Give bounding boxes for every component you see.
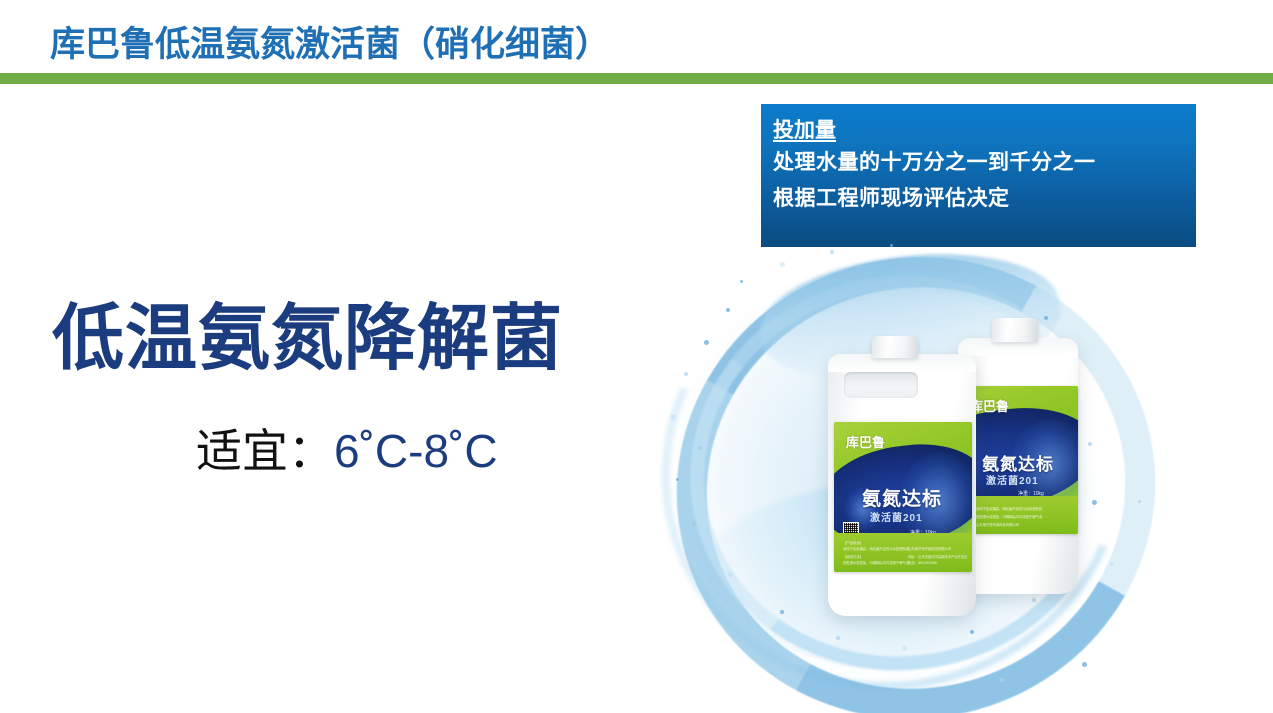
label-fineprint: 适用于氨氮偏高、硝化菌不足的污水处理系统 [976, 507, 1042, 512]
water-droplet [676, 478, 679, 481]
water-droplet [780, 262, 785, 267]
label-fineprint: 【使用方法】 [843, 555, 863, 560]
temperature-subline: 适宜：6˚C-8˚C [196, 424, 498, 479]
label-sub-text: 激活菌201 [986, 472, 1039, 487]
water-droplet [698, 446, 702, 450]
water-droplet [704, 340, 709, 345]
label-fineprint: 山东库巴鲁环保科技有限公司 [976, 523, 1019, 528]
product-label-front: 库巴鲁 氨氮达标 激活菌201 净重：10kg 【产品用途】 适用于氨氮偏高、硝… [834, 422, 972, 572]
water-droplet [780, 610, 784, 614]
label-fineprint: 按处理水量投加，可稀释后均匀泼洒于曝气池 [976, 515, 1042, 520]
water-droplet [740, 280, 743, 283]
water-droplet [1000, 276, 1004, 280]
water-droplet [1088, 442, 1092, 446]
dosage-callout-box: 投加量 处理水量的十万分之一到千分之一 根据工程师现场评估决定 [761, 104, 1196, 247]
water-droplet [1044, 316, 1048, 320]
water-droplet [890, 244, 893, 247]
subline-value: 6˚C-8˚C [334, 425, 498, 477]
bottle-handle [844, 372, 918, 398]
water-droplet [1082, 662, 1087, 667]
label-brand-text: 库巴鲁 [846, 432, 885, 451]
label-fineprint: 按处理水量投加，可稀释后均匀泼洒于曝气池 [843, 561, 909, 566]
product-bottle-front: 库巴鲁 氨氮达标 激活菌201 净重：10kg 【产品用途】 适用于氨氮偏高、硝… [828, 354, 976, 616]
water-droplet [902, 646, 907, 651]
water-droplet [950, 254, 955, 259]
water-droplet [726, 308, 730, 312]
label-fineprint: 【产品用途】 [843, 541, 863, 546]
dosage-line-2: 根据工程师现场评估决定 [773, 182, 1196, 216]
water-droplet [830, 250, 834, 254]
label-fineprint: 山东库巴鲁环保科技有限公司 [908, 547, 951, 552]
product-photo: 库巴鲁 氨氮达标 激活菌201 净重：10kg 适用于氨氮偏高、硝化菌不足的污水… [640, 232, 1273, 713]
water-droplet [692, 522, 696, 526]
product-bottle-back: 库巴鲁 氨氮达标 激活菌201 净重：10kg 适用于氨氮偏高、硝化菌不足的污水… [958, 338, 1078, 594]
water-droplet [1138, 500, 1141, 503]
water-droplet [728, 572, 733, 577]
water-droplet [1000, 678, 1004, 682]
water-droplet [1110, 562, 1114, 566]
label-fineprint: 地址：山东省潍坊市高新技术产业开发区 [908, 555, 967, 560]
bottle-cap-back [992, 318, 1038, 342]
dosage-line-1: 处理水量的十万分之一到千分之一 [773, 146, 1196, 180]
label-fineprint: 电话：400-000-0000 [908, 561, 937, 566]
slide-canvas: 库巴鲁低温氨氮激活菌（硝化细菌） 投加量 处理水量的十万分之一到千分之一 根据工… [0, 0, 1273, 713]
label-fineprint: 适用于氨氮偏高、硝化菌不足的污水处理系统 [843, 547, 909, 552]
water-droplet [684, 372, 688, 376]
subline-label: 适宜： [196, 425, 334, 477]
water-droplet [670, 414, 676, 420]
label-main-text: 氨氮达标 [862, 484, 942, 511]
dosage-heading: 投加量 [773, 118, 836, 144]
water-droplet [1092, 500, 1097, 505]
page-title: 库巴鲁低温氨氮激活菌（硝化细菌） [50, 24, 610, 66]
water-droplet [970, 630, 974, 634]
dosage-heading-wrap: 投加量 [773, 118, 1196, 144]
water-droplet [1032, 598, 1036, 602]
label-footer-band [834, 533, 972, 572]
main-headline: 低温氨氮降解菌 [52, 300, 563, 379]
bottle-cap-front [872, 336, 918, 358]
water-droplet [836, 636, 840, 640]
title-divider-rule [0, 73, 1273, 84]
label-sub-text: 激活菌201 [870, 509, 923, 524]
